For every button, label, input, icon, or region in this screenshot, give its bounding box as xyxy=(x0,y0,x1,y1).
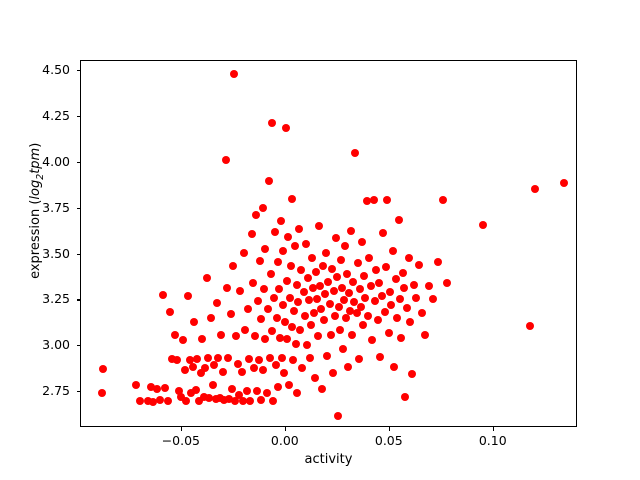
data-point xyxy=(234,360,242,368)
data-point xyxy=(98,389,106,397)
y-axis-tick xyxy=(77,299,81,300)
data-point xyxy=(305,296,313,304)
data-point xyxy=(250,364,258,372)
data-point xyxy=(328,265,336,273)
data-point xyxy=(268,119,276,127)
data-point xyxy=(342,314,350,322)
y-axis-tick xyxy=(77,70,81,71)
data-point xyxy=(434,258,442,266)
data-point xyxy=(255,356,263,364)
data-point xyxy=(274,383,282,391)
data-point xyxy=(267,270,275,278)
data-point xyxy=(329,369,337,377)
data-point xyxy=(303,341,311,349)
data-point xyxy=(275,285,283,293)
data-point xyxy=(370,196,378,204)
x-axis-tick xyxy=(389,427,390,431)
data-point xyxy=(344,363,352,371)
data-point xyxy=(354,259,362,267)
data-point xyxy=(323,352,331,360)
data-point xyxy=(256,257,264,265)
data-point xyxy=(355,355,363,363)
y-axis-tick xyxy=(77,116,81,117)
data-point xyxy=(270,294,278,302)
data-point xyxy=(190,318,198,326)
data-point xyxy=(318,385,326,393)
x-axis-tick xyxy=(493,427,494,431)
data-point xyxy=(223,284,231,292)
data-point xyxy=(360,272,368,280)
data-point xyxy=(209,381,217,389)
data-point xyxy=(367,282,375,290)
data-point xyxy=(230,70,238,78)
data-point xyxy=(368,336,376,344)
data-point xyxy=(284,233,292,241)
data-point xyxy=(156,396,164,404)
data-point xyxy=(236,287,244,295)
data-point xyxy=(336,326,344,334)
data-point xyxy=(365,254,373,262)
data-point xyxy=(184,292,192,300)
data-point xyxy=(244,305,252,313)
data-point xyxy=(393,314,401,322)
y-axis-tick xyxy=(77,345,81,346)
data-point xyxy=(341,242,349,250)
data-point xyxy=(254,297,262,305)
x-axis-tick xyxy=(285,427,286,431)
x-axis-tick-label: 0.10 xyxy=(453,433,533,448)
data-point xyxy=(443,279,451,287)
data-point xyxy=(379,229,387,237)
data-point xyxy=(418,309,426,317)
data-point xyxy=(292,340,300,348)
y-axis-label-suffix: ) xyxy=(28,143,43,148)
data-point xyxy=(374,316,382,324)
data-point xyxy=(331,312,339,320)
data-point xyxy=(345,289,353,297)
data-point xyxy=(315,222,323,230)
data-point xyxy=(273,314,281,322)
x-axis-tick xyxy=(181,427,182,431)
y-axis-label-prefix: expression ( xyxy=(28,200,43,279)
y-axis-label-log: log xyxy=(28,180,43,200)
data-point xyxy=(392,275,400,283)
data-point xyxy=(161,384,169,392)
x-axis-tick-label: 0.00 xyxy=(245,433,325,448)
data-point xyxy=(263,389,271,397)
data-point xyxy=(285,381,293,389)
data-point xyxy=(153,385,161,393)
data-point xyxy=(332,234,340,242)
data-point xyxy=(333,273,341,281)
data-point xyxy=(347,227,355,235)
data-point xyxy=(526,322,534,330)
data-point xyxy=(298,364,306,372)
data-point xyxy=(232,332,240,340)
data-point xyxy=(326,300,334,308)
data-point xyxy=(229,262,237,270)
data-point xyxy=(252,211,260,219)
data-point xyxy=(356,285,364,293)
data-point xyxy=(214,354,222,362)
data-point xyxy=(198,335,206,343)
y-axis-label-tpm: tpm xyxy=(28,148,43,174)
data-point xyxy=(319,262,327,270)
data-point xyxy=(390,363,398,371)
data-point xyxy=(410,281,418,289)
data-point xyxy=(261,335,269,343)
data-point xyxy=(439,196,447,204)
data-point xyxy=(378,292,386,300)
data-point xyxy=(306,354,314,362)
data-point xyxy=(361,294,369,302)
data-point xyxy=(349,278,357,286)
data-point xyxy=(337,256,345,264)
data-point xyxy=(228,385,236,393)
data-point xyxy=(304,274,312,282)
data-point xyxy=(213,299,221,307)
data-point xyxy=(300,288,308,296)
data-point xyxy=(320,316,328,324)
data-point xyxy=(311,374,319,382)
data-point xyxy=(412,294,420,302)
data-point xyxy=(166,308,174,316)
data-point xyxy=(207,314,215,322)
data-point xyxy=(217,331,225,339)
data-point xyxy=(173,356,181,364)
data-point xyxy=(343,270,351,278)
data-point xyxy=(253,387,261,395)
data-point xyxy=(189,363,197,371)
data-point xyxy=(531,185,539,193)
data-point xyxy=(286,294,294,302)
data-point xyxy=(257,315,265,323)
data-point xyxy=(181,366,189,374)
data-point xyxy=(327,331,335,339)
data-point xyxy=(297,266,305,274)
data-point xyxy=(171,331,179,339)
data-point xyxy=(219,368,227,376)
data-point xyxy=(330,287,338,295)
data-point xyxy=(403,304,411,312)
data-point xyxy=(479,221,487,229)
y-axis-tick-label: 2.75 xyxy=(0,383,70,399)
data-point xyxy=(272,361,280,369)
data-point xyxy=(265,177,273,185)
data-point xyxy=(295,225,303,233)
y-axis-label: expression (log2tpm) xyxy=(28,81,46,341)
data-point xyxy=(283,335,291,343)
y-axis-tick xyxy=(77,254,81,255)
data-point xyxy=(201,364,209,372)
data-point xyxy=(386,288,394,296)
data-point xyxy=(251,332,259,340)
data-point xyxy=(245,355,253,363)
data-point xyxy=(375,279,383,287)
data-point xyxy=(317,305,325,313)
data-point xyxy=(288,195,296,203)
data-point xyxy=(248,230,256,238)
data-point xyxy=(357,303,365,311)
data-point xyxy=(279,301,287,309)
data-point xyxy=(264,305,272,313)
y-axis-tick xyxy=(77,162,81,163)
y-axis-label-base: 2 xyxy=(35,174,46,180)
data-point xyxy=(387,301,395,309)
data-point xyxy=(308,254,316,262)
data-point xyxy=(364,312,372,320)
data-point xyxy=(179,336,187,344)
data-point xyxy=(429,295,437,303)
data-point xyxy=(302,240,310,248)
data-point xyxy=(269,397,277,405)
data-point xyxy=(287,262,295,270)
data-point xyxy=(400,284,408,292)
data-point xyxy=(321,290,329,298)
data-point xyxy=(372,266,380,274)
data-point xyxy=(279,247,287,255)
data-point xyxy=(389,247,397,255)
y-axis-tick xyxy=(77,391,81,392)
data-point xyxy=(246,397,254,405)
data-point xyxy=(397,334,405,342)
x-axis-tick-label: −0.05 xyxy=(141,433,221,448)
data-point xyxy=(348,331,356,339)
data-point xyxy=(203,274,211,282)
data-point xyxy=(288,323,296,331)
data-point xyxy=(132,381,140,389)
data-point xyxy=(249,279,257,287)
data-point xyxy=(193,355,201,363)
data-point xyxy=(159,291,167,299)
data-point xyxy=(293,281,301,289)
data-point xyxy=(271,228,279,236)
data-point xyxy=(283,277,291,285)
data-point xyxy=(401,393,409,401)
data-point xyxy=(268,327,276,335)
data-point xyxy=(261,245,269,253)
y-axis-tick-label: 4.50 xyxy=(0,62,70,78)
data-point xyxy=(408,370,416,378)
data-point xyxy=(313,295,321,303)
data-point xyxy=(291,242,299,250)
data-point xyxy=(192,386,200,394)
data-point xyxy=(324,278,332,286)
data-point xyxy=(278,354,286,362)
scatter-plot-figure: ESRRA_ESR2, ρ = 0.37 hg19_v2_chr14_-_647… xyxy=(0,0,640,480)
data-point xyxy=(260,285,268,293)
data-point xyxy=(381,308,389,316)
data-point xyxy=(383,196,391,204)
data-point xyxy=(385,329,393,337)
data-point xyxy=(358,238,366,246)
data-point xyxy=(259,204,267,212)
data-point xyxy=(307,321,315,329)
data-point xyxy=(560,179,568,187)
data-point xyxy=(289,356,297,364)
data-point xyxy=(316,282,324,290)
data-point xyxy=(322,249,330,257)
data-point xyxy=(290,307,298,315)
data-point xyxy=(312,268,320,276)
data-point xyxy=(293,389,301,397)
data-point xyxy=(371,297,379,305)
data-point xyxy=(294,298,302,306)
data-point xyxy=(164,397,172,405)
data-point xyxy=(415,261,423,269)
data-point xyxy=(335,303,343,311)
data-point xyxy=(396,295,404,303)
data-point xyxy=(425,282,433,290)
data-point xyxy=(277,217,285,225)
data-point xyxy=(222,156,230,164)
data-point xyxy=(296,326,304,334)
data-point xyxy=(399,269,407,277)
data-point xyxy=(224,354,232,362)
data-point xyxy=(274,258,282,266)
data-point xyxy=(339,345,347,353)
data-point xyxy=(376,353,384,361)
data-point xyxy=(280,369,288,377)
data-point xyxy=(99,365,107,373)
x-axis-label: activity xyxy=(80,452,577,467)
data-point xyxy=(240,249,248,257)
data-point xyxy=(421,331,429,339)
data-point xyxy=(351,149,359,157)
data-point xyxy=(241,326,249,334)
data-point xyxy=(301,312,309,320)
data-point xyxy=(334,412,342,420)
data-point xyxy=(406,318,414,326)
data-point xyxy=(282,124,290,132)
data-point xyxy=(238,368,246,376)
data-point xyxy=(395,216,403,224)
data-point xyxy=(243,387,251,395)
data-point xyxy=(382,263,390,271)
data-point xyxy=(359,321,367,329)
data-point xyxy=(257,396,265,404)
data-point xyxy=(259,366,267,374)
data-point xyxy=(314,332,322,340)
x-axis-tick-label: 0.05 xyxy=(349,433,429,448)
plot-area xyxy=(80,60,577,427)
y-axis-tick xyxy=(77,208,81,209)
data-point xyxy=(227,310,235,318)
data-point xyxy=(405,254,413,262)
data-point xyxy=(182,397,190,405)
